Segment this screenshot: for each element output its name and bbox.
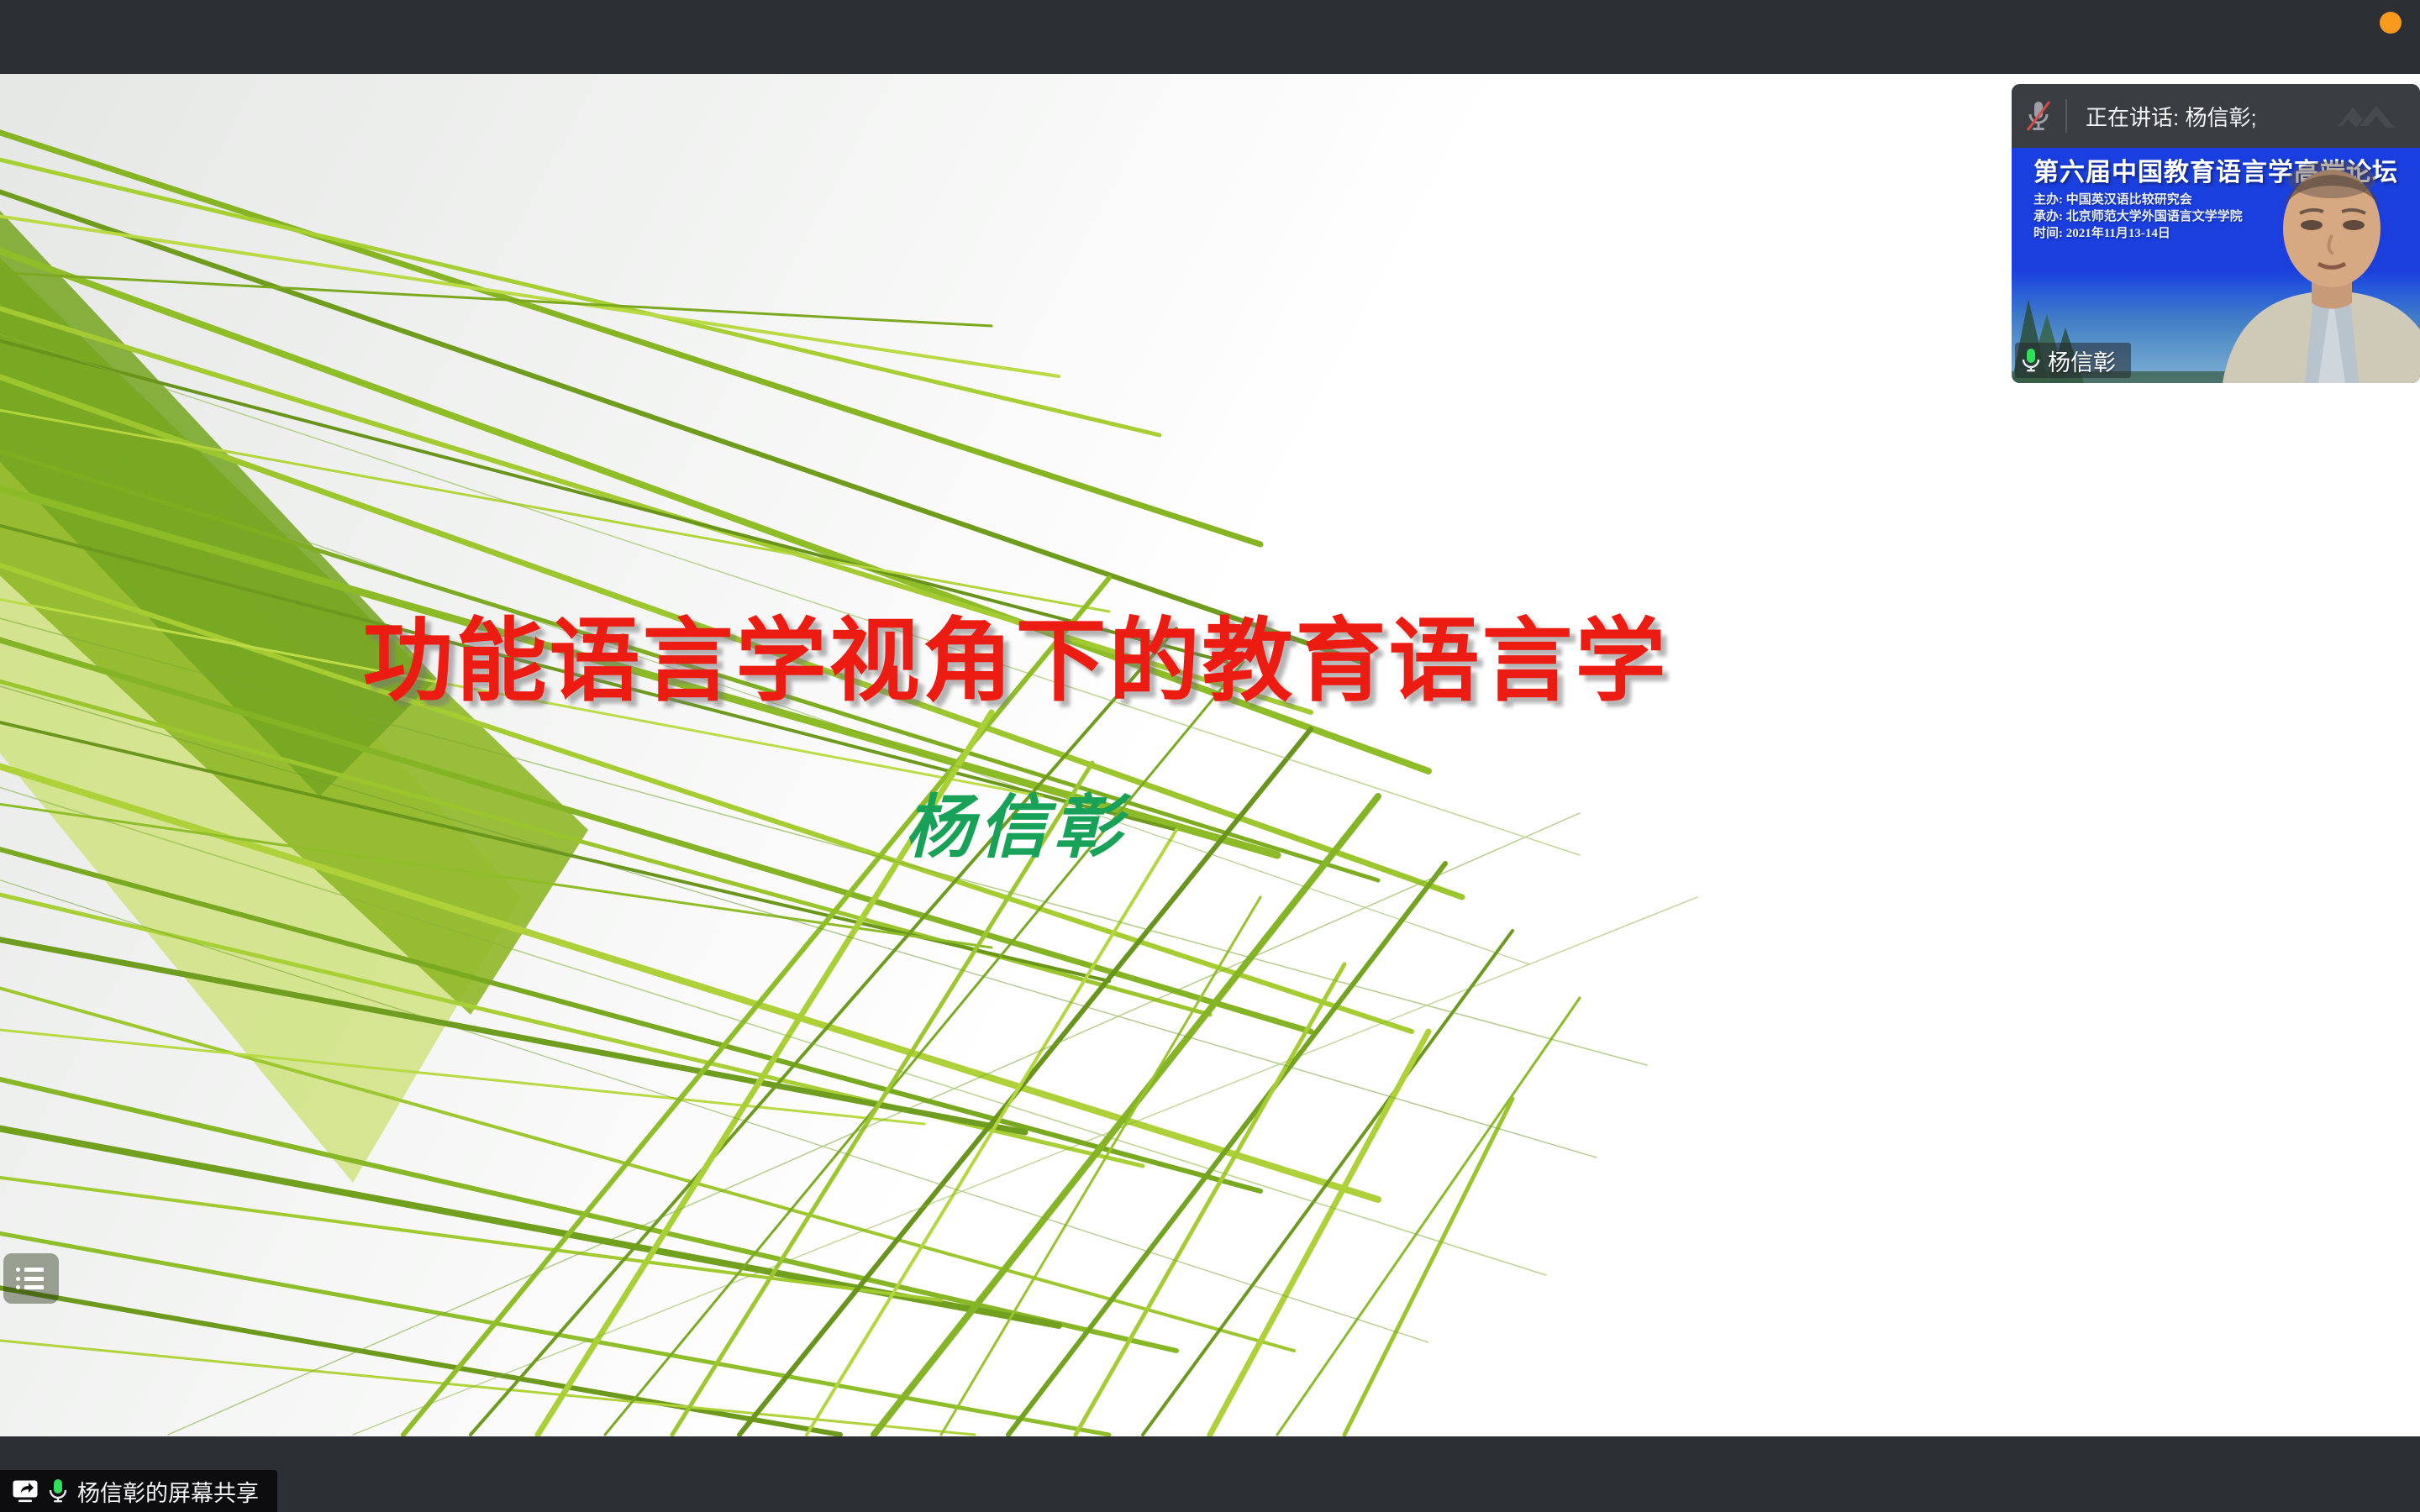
screen-share-status[interactable]: 杨信彰的屏幕共享 — [0, 1470, 277, 1512]
microphone-active-icon — [2022, 348, 2040, 373]
header-divider — [2065, 99, 2067, 133]
participant-name-badge: 杨信彰 — [2015, 343, 2131, 378]
slideshow-menu-button[interactable] — [3, 1253, 59, 1304]
microphone-active-icon — [49, 1478, 67, 1504]
meeting-screenshare-window: 功能语言学视角下的教育语言学 杨信彰 — [0, 0, 2420, 1512]
screen-share-label: 杨信彰的屏幕共享 — [77, 1475, 259, 1508]
slide-title: 功能语言学视角下的教育语言学 — [0, 588, 1880, 719]
presentation-slide[interactable]: 功能语言学视角下的教育语言学 杨信彰 — [0, 74, 1880, 1436]
presenter-figure — [2206, 158, 2420, 383]
grass-blades-decoration — [0, 74, 1880, 1436]
bulleted-list-icon — [16, 1268, 46, 1289]
microphone-muted-icon[interactable] — [2012, 98, 2065, 134]
speaker-video-feed: 第六届中国教育语言学高端论坛 主办: 中国英汉语比较研究会 承办: 北京师范大学… — [2012, 148, 2420, 383]
speaker-video-panel[interactable]: 正在讲话: 杨信彰; — [2012, 84, 2420, 383]
status-indicator-dot — [2380, 12, 2402, 34]
meeting-brand-logo-icon — [2331, 96, 2408, 139]
bottom-bar: 杨信彰的屏幕共享 — [0, 1436, 2420, 1512]
top-strip — [0, 0, 2420, 74]
speaking-status-label: 正在讲话: 杨信彰; — [2086, 101, 2257, 132]
screen-share-icon — [12, 1479, 39, 1503]
participant-name: 杨信彰 — [2048, 344, 2116, 377]
slide-author: 杨信彰 — [0, 771, 1880, 871]
speaker-video-header: 正在讲话: 杨信彰; — [2012, 84, 2420, 148]
